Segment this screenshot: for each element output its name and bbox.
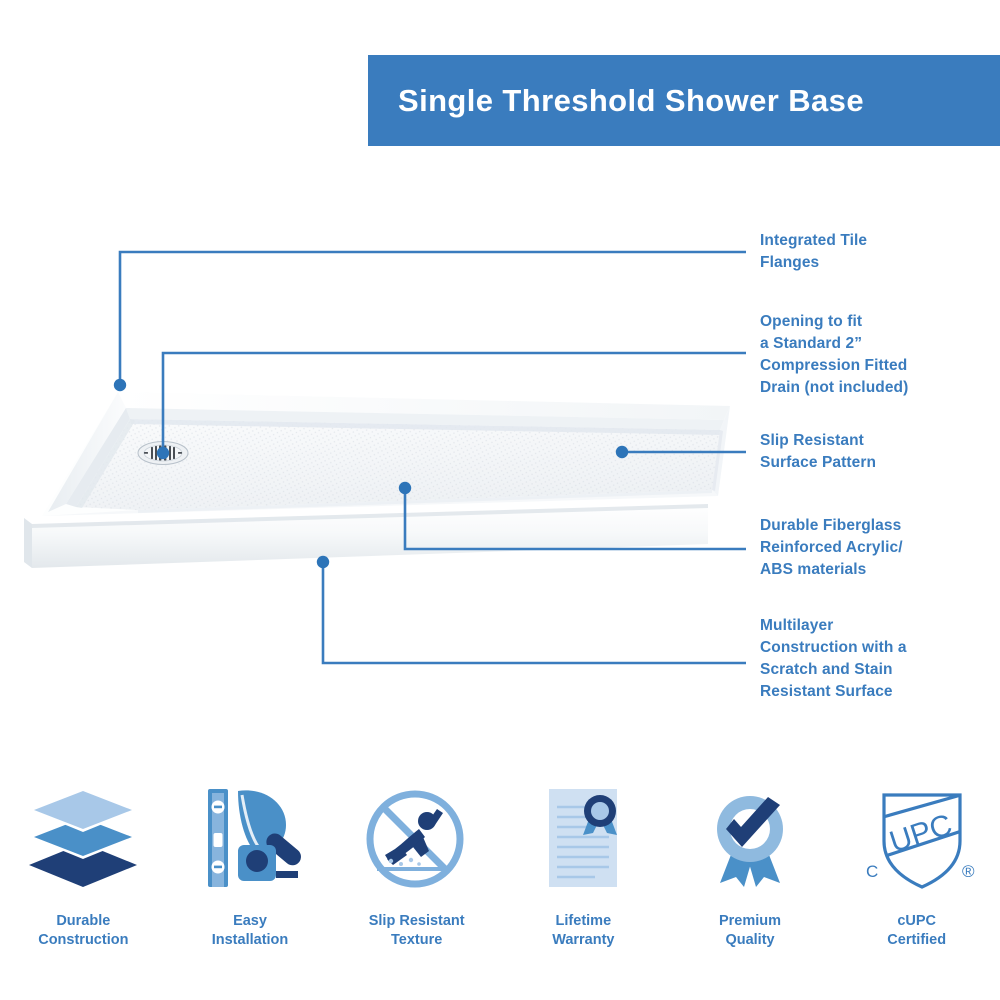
cupc-registered-mark: ® — [962, 862, 975, 881]
feature-lifetime-warranty: Lifetime Warranty — [500, 780, 667, 950]
level-trowel-icon — [190, 780, 310, 900]
cupc-left-mark: C — [866, 862, 878, 881]
callout-label-slip-resistant-surface: Slip Resistant Surface Pattern — [760, 430, 990, 474]
callout-label-drain-opening: Opening to fit a Standard 2” Compression… — [760, 311, 1000, 399]
no-slip-icon — [357, 780, 477, 900]
feature-caption: Premium Quality — [719, 912, 781, 950]
callout-label-multilayer-construction: Multilayer Construction with a Scratch a… — [760, 615, 990, 703]
warranty-document-icon — [523, 780, 643, 900]
callout-label-integrated-tile-flanges: Integrated Tile Flanges — [760, 230, 990, 274]
callout-label-durable-materials: Durable Fiberglass Reinforced Acrylic/ A… — [760, 515, 995, 581]
feature-caption: Slip Resistant Texture — [369, 912, 465, 950]
feature-cupc-certified: UPC C ® cUPC Certified — [833, 780, 1000, 950]
leader-drain-opening — [163, 353, 746, 453]
feature-slip-resistant-texture: Slip Resistant Texture — [333, 780, 500, 950]
check-rosette-icon — [690, 780, 810, 900]
feature-caption: Durable Construction — [38, 912, 128, 950]
feature-caption: Lifetime Warranty — [552, 912, 614, 950]
layers-icon — [23, 780, 143, 900]
leader-integrated-tile-flanges — [120, 252, 746, 385]
feature-easy-installation: Easy Installation — [167, 780, 334, 950]
feature-strip: Durable Construction — [0, 780, 1000, 965]
feature-premium-quality: Premium Quality — [667, 780, 834, 950]
infographic-canvas: Single Threshold Shower Base — [0, 0, 1000, 1000]
cupc-shield-icon: UPC C ® — [854, 780, 980, 900]
feature-caption: Easy Installation — [212, 912, 289, 950]
feature-caption: cUPC Certified — [887, 912, 946, 950]
leader-durable-materials — [405, 488, 746, 549]
feature-durable-construction: Durable Construction — [0, 780, 167, 950]
leader-multilayer-construction — [323, 562, 746, 663]
